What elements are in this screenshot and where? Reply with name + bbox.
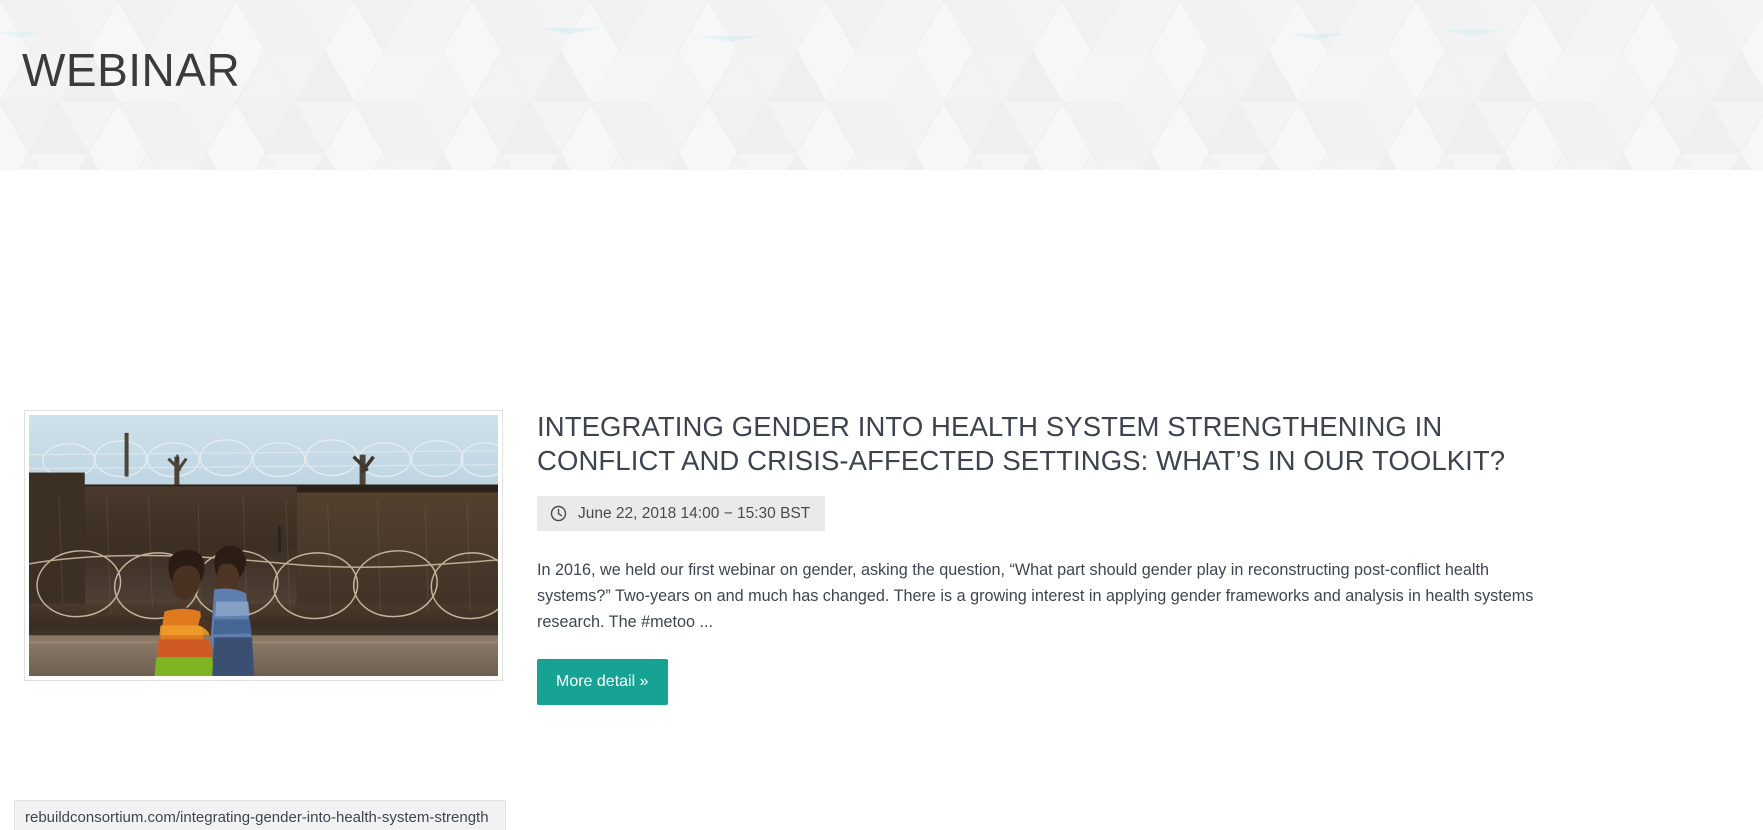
next-item-preview-row[interactable]: rebuildconsortium.com/integrating-gender… xyxy=(14,800,506,830)
webinar-title[interactable]: INTEGRATING GENDER INTO HEALTH SYSTEM ST… xyxy=(537,410,1547,478)
banner-pattern-graphic xyxy=(0,0,1763,170)
webinar-thumbnail-frame[interactable] xyxy=(24,410,503,681)
webinar-date-text: June 22, 2018 14:00 − 15:30 BST xyxy=(578,504,810,523)
razor-wire-wall-photo xyxy=(29,415,498,676)
clock-icon xyxy=(550,505,567,522)
page-banner: WEBINAR xyxy=(0,0,1763,170)
page-title: WEBINAR xyxy=(22,42,240,98)
webinar-thumbnail-image[interactable] xyxy=(29,415,498,676)
more-detail-button[interactable]: More detail » xyxy=(537,659,668,705)
webinar-excerpt: In 2016, we held our first webinar on ge… xyxy=(537,557,1537,635)
webinar-date-badge: June 22, 2018 14:00 − 15:30 BST xyxy=(537,496,825,531)
webinar-text-column: INTEGRATING GENDER INTO HEALTH SYSTEM ST… xyxy=(537,410,1737,705)
next-item-preview-text: rebuildconsortium.com/integrating-gender… xyxy=(15,801,505,829)
